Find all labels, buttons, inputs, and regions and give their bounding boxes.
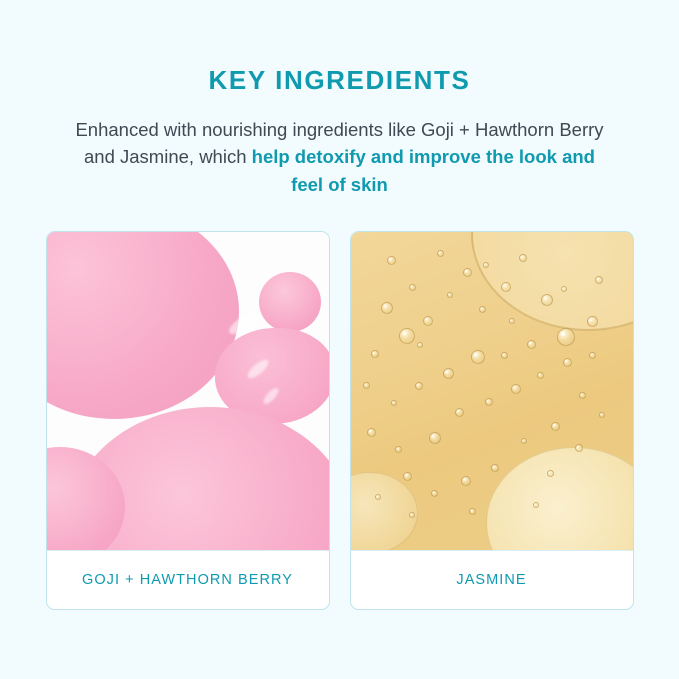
gold-bubble (509, 318, 515, 324)
gold-bubble (399, 328, 415, 344)
gold-bubble (363, 382, 370, 389)
gold-bubble (367, 428, 376, 437)
gold-bubble (595, 276, 603, 284)
gold-bubble (471, 350, 485, 364)
subheading: Enhanced with nourishing ingredients lik… (70, 93, 610, 198)
ingredient-card-jasmine: JASMINE (350, 231, 634, 610)
subheading-highlight: help detoxify and improve the look and f… (252, 146, 595, 194)
gold-bubble (537, 372, 544, 379)
gold-bubble (409, 512, 415, 518)
gold-bubble (371, 350, 379, 358)
gold-bubble (533, 502, 539, 508)
ingredient-card-list: GOJI + HAWTHORN BERRY JASMINE (0, 231, 679, 610)
gold-bubble (511, 384, 521, 394)
gold-bubble (479, 306, 486, 313)
gold-bubble (381, 302, 393, 314)
pink-droplet-4 (259, 272, 321, 332)
gold-bubble (431, 490, 438, 497)
gold-bubble (575, 444, 583, 452)
gold-bubble (587, 316, 598, 327)
ingredient-card-goji: GOJI + HAWTHORN BERRY (46, 231, 330, 610)
gold-bubble (455, 408, 464, 417)
gold-bubble (443, 368, 454, 379)
gold-bubble (541, 294, 553, 306)
gold-bubble (491, 464, 499, 472)
ingredient-card-label-jasmine: JASMINE (351, 550, 633, 609)
gold-bubble (437, 250, 444, 257)
gold-bubble (519, 254, 527, 262)
gold-bubble (403, 472, 412, 481)
gold-bubble (429, 432, 441, 444)
gold-bubble (417, 342, 423, 348)
gold-bubble (387, 256, 396, 265)
gold-bubble (485, 398, 493, 406)
gold-bubble (527, 340, 536, 349)
gold-bubble (547, 470, 554, 477)
gold-bubble (375, 494, 381, 500)
gold-bubble (415, 382, 423, 390)
gold-bubble (463, 268, 472, 277)
gold-bubble (423, 316, 433, 326)
gold-bubble (461, 476, 471, 486)
gold-bubble (469, 508, 476, 515)
gold-bubble (561, 286, 567, 292)
ingredient-card-label-goji: GOJI + HAWTHORN BERRY (47, 550, 329, 609)
gold-bubble (589, 352, 596, 359)
gold-bubble (501, 352, 508, 359)
key-ingredients-panel: KEY INGREDIENTS Enhanced with nourishing… (0, 0, 679, 679)
pink-emulsion-macro-photo (47, 232, 329, 550)
gold-bubble (599, 412, 605, 418)
gold-bubble (563, 358, 572, 367)
gold-bubble (391, 400, 397, 406)
gold-bubble (579, 392, 586, 399)
gold-bubble (447, 292, 453, 298)
gold-bubble (521, 438, 527, 444)
gold-bubble (501, 282, 511, 292)
gold-bubble (395, 446, 402, 453)
page-title: KEY INGREDIENTS (0, 0, 679, 93)
gold-bubble (551, 422, 560, 431)
gold-bubble (557, 328, 575, 346)
gold-bubble (483, 262, 489, 268)
gold-bubble (409, 284, 416, 291)
golden-oil-bubbles-macro-photo (351, 232, 633, 550)
